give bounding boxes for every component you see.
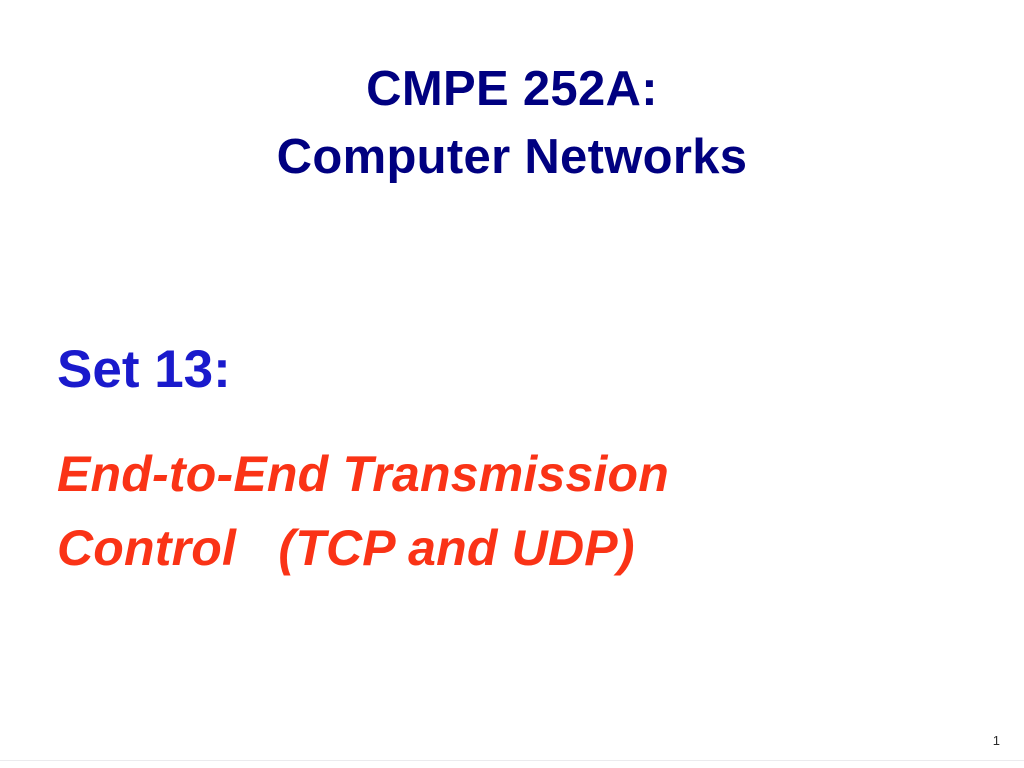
title-line-course-code: CMPE 252A: [0,56,1024,124]
slide-body: Set 13: End-to-End Transmission Control … [57,340,997,585]
title-line-course-name: Computer Networks [0,124,1024,192]
set-label: Set 13: [57,340,997,399]
subject-line-1: End-to-End Transmission [57,437,997,511]
slide-title: CMPE 252A: Computer Networks [0,56,1024,191]
subject-line-2: Control (TCP and UDP) [57,511,997,585]
footer-divider [0,760,1024,761]
slide: CMPE 252A: Computer Networks Set 13: End… [0,0,1024,768]
page-number: 1 [993,733,1000,748]
